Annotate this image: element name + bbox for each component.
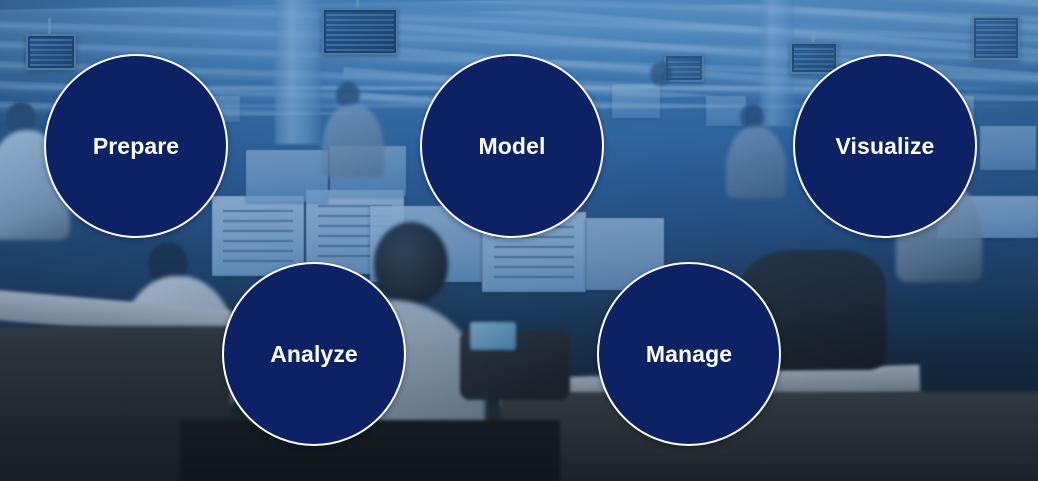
circle-label-prepare: Prepare <box>93 135 179 158</box>
circle-label-model: Model <box>479 135 546 158</box>
circle-node-manage[interactable]: Manage <box>597 262 781 446</box>
circle-label-visualize: Visualize <box>836 135 935 158</box>
circle-label-analyze: Analyze <box>270 343 358 366</box>
diagram-canvas: Prepare Analyze Model Manage Visualize <box>0 0 1038 481</box>
circle-node-analyze[interactable]: Analyze <box>222 262 406 446</box>
circle-node-visualize[interactable]: Visualize <box>793 54 977 238</box>
circle-label-manage: Manage <box>646 343 732 366</box>
circle-node-prepare[interactable]: Prepare <box>44 54 228 238</box>
circle-node-model[interactable]: Model <box>420 54 604 238</box>
